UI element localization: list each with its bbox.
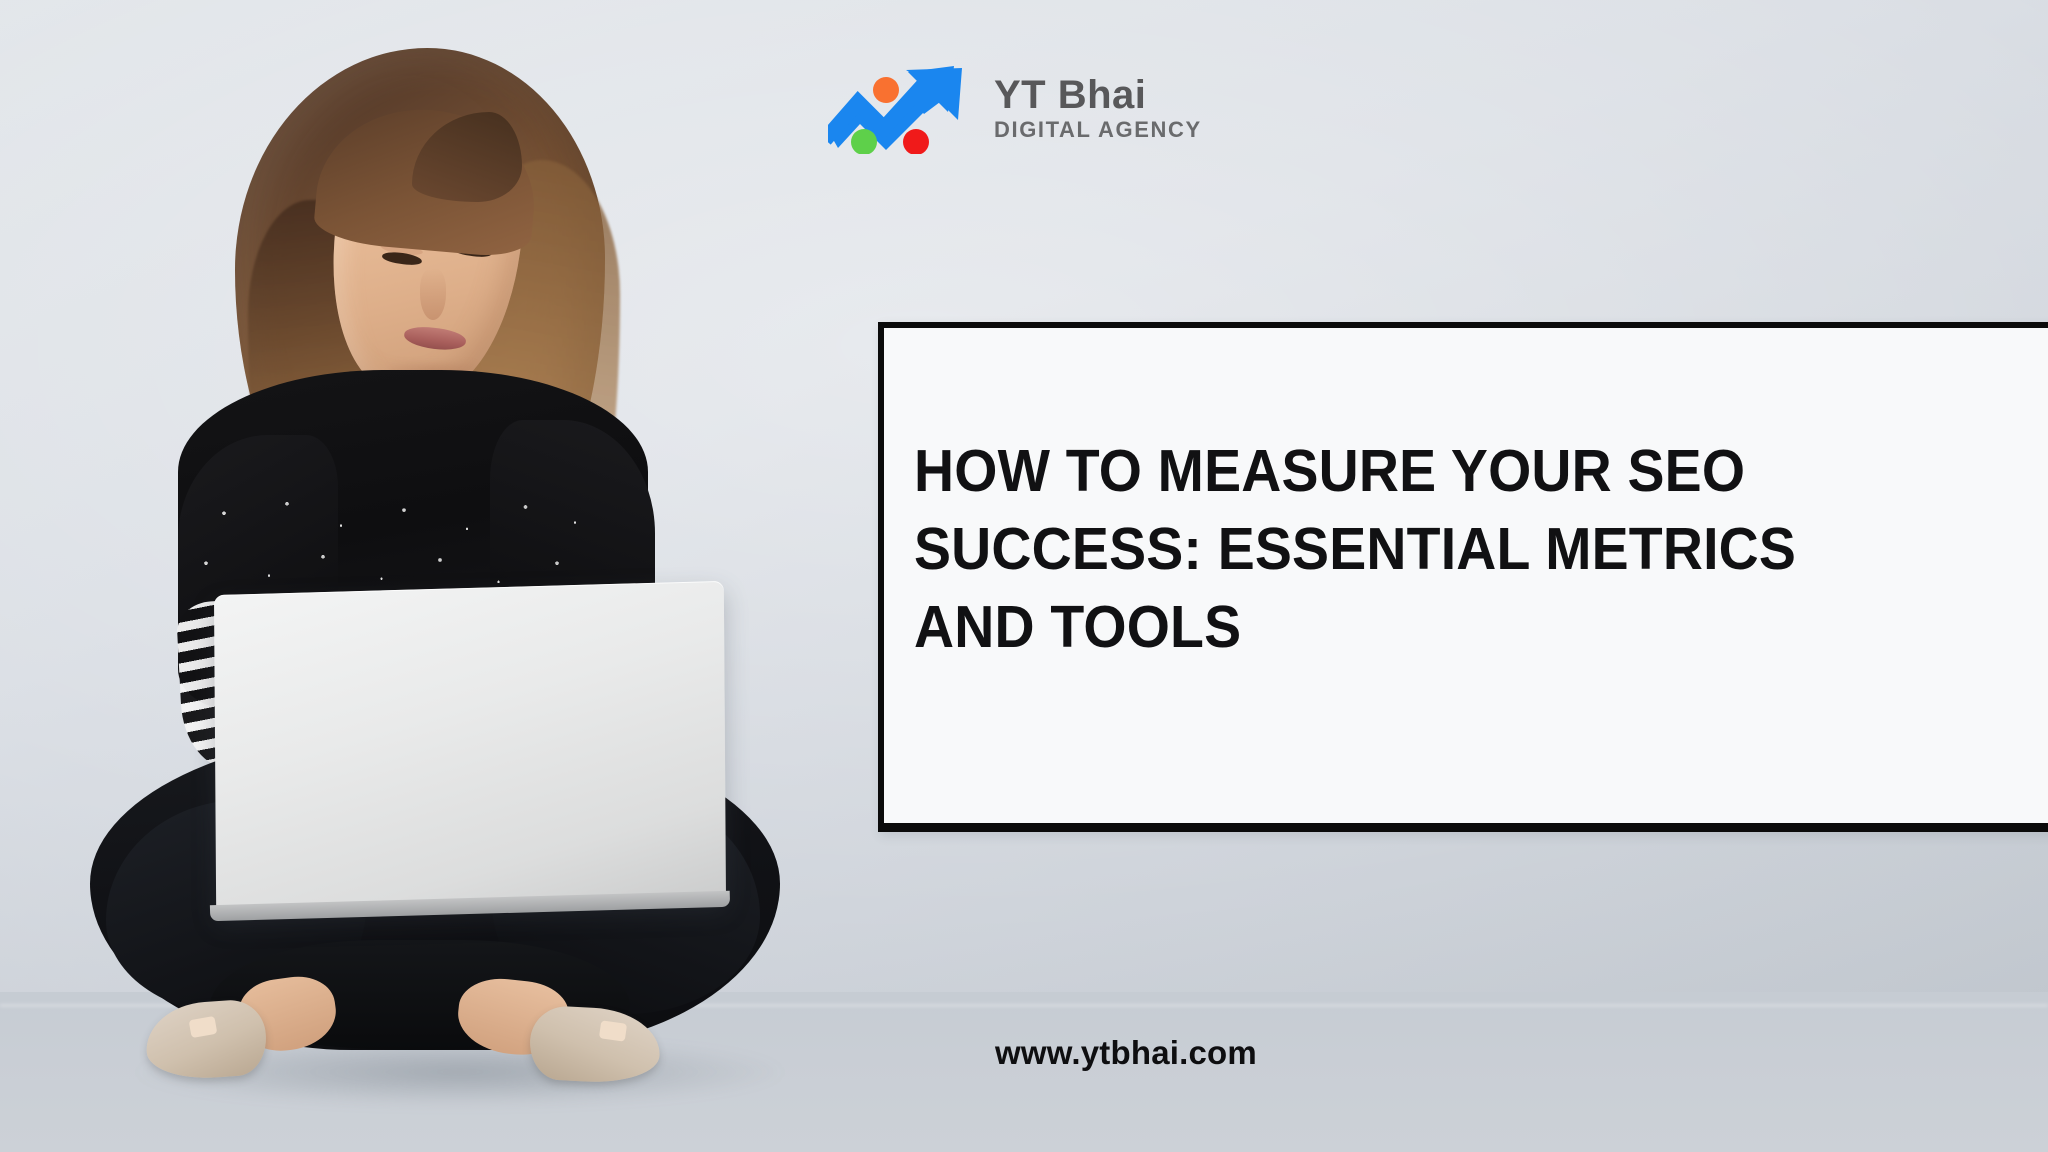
brand-name: YT Bhai bbox=[994, 75, 1202, 115]
dot-green bbox=[851, 129, 877, 154]
laptop-lid bbox=[214, 581, 726, 915]
blog-thumbnail-canvas: YT Bhai DIGITAL AGENCY How to Measure Yo… bbox=[0, 0, 2048, 1152]
logo-text-lockup: YT Bhai DIGITAL AGENCY bbox=[994, 75, 1202, 141]
flat-shoe-left bbox=[143, 998, 268, 1082]
website-url[interactable]: www.ytbhai.com bbox=[995, 1034, 1257, 1072]
dot-orange bbox=[873, 77, 899, 103]
brand-logo[interactable]: YT Bhai DIGITAL AGENCY bbox=[828, 62, 1202, 154]
nose bbox=[420, 268, 446, 320]
brand-tagline: DIGITAL AGENCY bbox=[994, 119, 1202, 141]
page-title: How to Measure Your SEO Success: Essenti… bbox=[914, 433, 1816, 667]
woman-with-laptop-photo bbox=[60, 40, 900, 1125]
growth-arrow-chart-icon bbox=[828, 62, 976, 154]
dot-red bbox=[903, 129, 929, 154]
shoe-bow-right bbox=[599, 1020, 627, 1041]
headline-card: How to Measure Your SEO Success: Essenti… bbox=[878, 322, 2048, 832]
